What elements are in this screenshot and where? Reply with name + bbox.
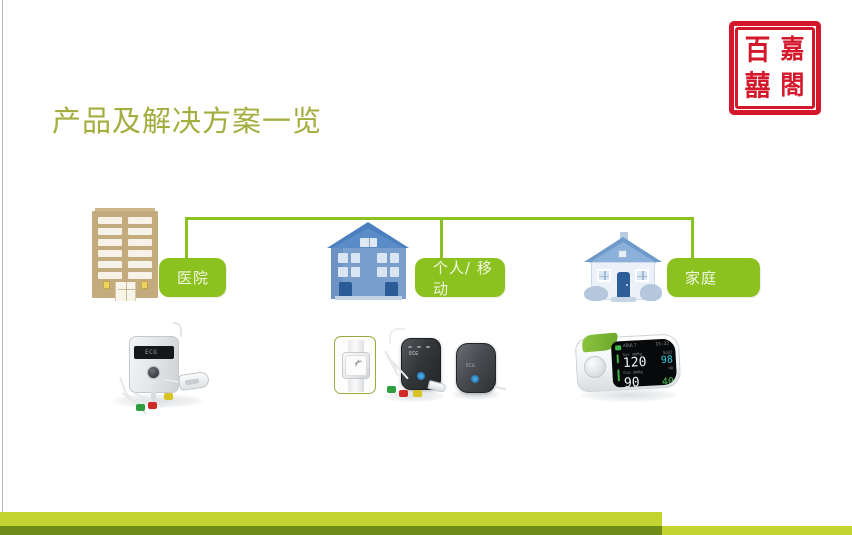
category-label-home[interactable]: 家庭	[667, 258, 760, 297]
seal-character-2: 嘉	[776, 32, 808, 68]
hospital-building-icon	[92, 211, 158, 301]
holter-center-button[interactable]	[147, 366, 160, 379]
module-body	[456, 343, 496, 393]
seal-character-grid: 百 嘉 囍 閤	[740, 32, 810, 104]
presentation-slide: 百 嘉 囍 閤 产品及解决方案一览	[0, 0, 852, 535]
module-label: ECG	[466, 363, 475, 369]
footer-bar-light-right	[662, 526, 852, 535]
watch-strap-bottom	[348, 378, 364, 392]
category-label-hospital-text: 医院	[177, 267, 209, 288]
holter-body	[129, 336, 179, 393]
hospital-entrance-door	[115, 282, 136, 301]
category-label-personal-mobile[interactable]: 个人/ 移动	[415, 258, 505, 297]
battery-icon	[615, 345, 621, 350]
holter-display-text: ECG	[145, 349, 157, 356]
house-bush-right	[640, 284, 662, 301]
module-cable-tail	[494, 386, 506, 390]
hospital-window-grid	[98, 217, 152, 279]
house-bush-left	[584, 286, 608, 301]
wearable-ecg-patch: ECG	[383, 320, 445, 408]
patch-electrode-green	[387, 386, 396, 393]
monitor-screen: ADULT 15:32 Sys mmHg 120 Dia mmHg 90 SpO…	[611, 338, 677, 387]
house-front-door	[617, 272, 630, 300]
bluetooth-ecg-module: ECG	[452, 341, 500, 403]
slide-left-border	[2, 0, 3, 535]
apartment-window-group	[338, 253, 399, 279]
footer-bar-light	[0, 512, 662, 526]
page-title: 产品及解决方案一览	[52, 98, 322, 140]
apartment-attic-window	[360, 238, 377, 247]
apartment-steps	[335, 296, 402, 300]
connector-drop-home	[691, 217, 694, 261]
holter-ecg-recorder: ECG	[104, 316, 210, 410]
pr-label: PR	[649, 365, 673, 371]
handheld-patient-monitor: ADULT 15:32 Sys mmHg 120 Dia mmHg 90 SpO…	[576, 334, 684, 406]
holter-display: ECG	[134, 346, 174, 359]
monitor-clock: 15:32	[655, 342, 669, 348]
smart-watch	[334, 336, 376, 394]
footer-bar-dark	[0, 526, 662, 535]
monitor-waveform	[616, 354, 621, 382]
hospital-lamp-left	[103, 281, 110, 289]
hospital-lamp-right	[141, 281, 148, 289]
patch-electrode-red	[399, 390, 408, 397]
patch-display: ECG	[408, 346, 434, 357]
category-label-home-text: 家庭	[685, 267, 717, 288]
category-label-hospital[interactable]: 医院	[159, 258, 226, 297]
apartment-building-icon	[327, 222, 410, 302]
connector-drop-personal	[440, 217, 443, 261]
spo2-finger-clip	[178, 371, 210, 391]
holter-top-cable	[173, 322, 182, 337]
seal-character-1: 百	[741, 32, 773, 68]
holter-electrode-green	[136, 404, 145, 411]
holter-electrode-red	[148, 402, 157, 409]
house-steps	[611, 297, 636, 302]
monitor-spo2-block: SpO2 98 PR 40	[648, 349, 674, 387]
monitor-mode-label: ADULT	[623, 343, 637, 349]
seal-character-4: 閤	[776, 68, 808, 104]
patch-status-led	[417, 372, 425, 380]
company-seal-stamp: 百 嘉 囍 閤	[729, 21, 821, 115]
house-building-icon	[584, 228, 662, 302]
house-attic-window	[618, 250, 627, 258]
holter-electrode-yellow	[164, 393, 173, 400]
house-window-right	[635, 269, 649, 282]
connector-drop-hospital	[185, 217, 188, 261]
seal-character-3: 囍	[741, 68, 773, 104]
house-window-left	[597, 269, 611, 282]
module-status-led	[471, 375, 479, 383]
patch-display-text: ECG	[409, 351, 418, 357]
patch-electrode-yellow	[413, 390, 422, 397]
category-label-personal-mobile-text: 个人/ 移动	[433, 257, 505, 299]
